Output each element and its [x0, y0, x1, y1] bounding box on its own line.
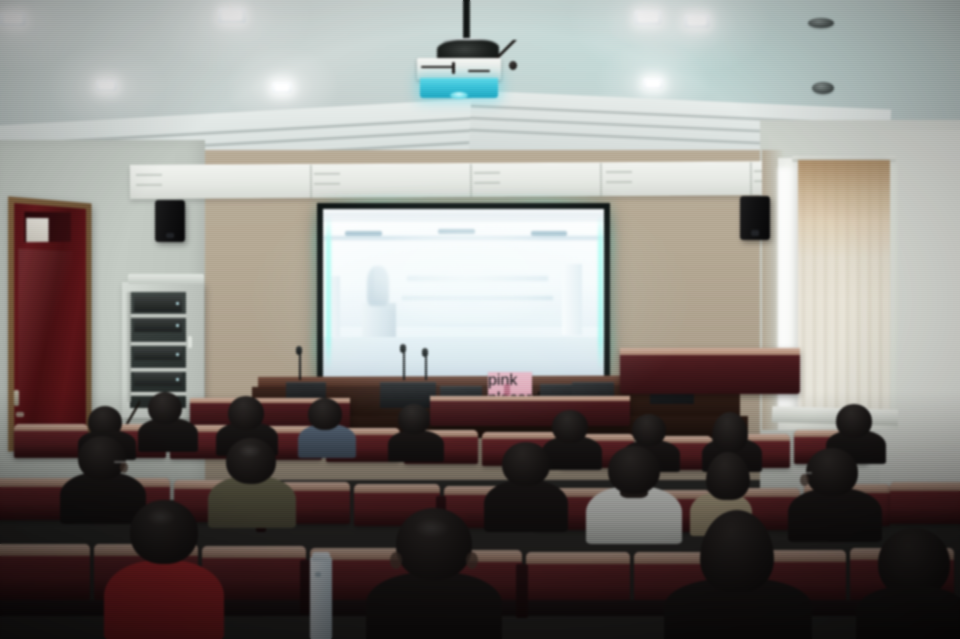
projection-screen[interactable] [323, 209, 604, 377]
hair-highlight [146, 508, 176, 526]
screen-side-glow-left [326, 215, 331, 371]
head [552, 410, 588, 443]
head [308, 398, 342, 430]
eyeglasses-arm [794, 472, 812, 474]
ear [390, 552, 402, 569]
eyeglasses-arm [114, 461, 130, 463]
head [608, 446, 660, 494]
bottle-cap[interactable] [312, 552, 330, 561]
curtain-shading [798, 160, 890, 418]
bench-back-wall-right[interactable] [620, 348, 800, 394]
microphone-mid-stem [403, 350, 405, 380]
ceiling-light-2 [218, 8, 246, 23]
speaker-driver-left-icon [166, 233, 174, 238]
ceiling-light-3 [96, 80, 117, 91]
placard-mark [504, 384, 510, 396]
ear [466, 552, 478, 569]
ceiling-speaker-mid-icon [812, 82, 834, 94]
head [228, 396, 264, 430]
projector-cable-knob [509, 61, 517, 70]
projector-lens-icon [450, 92, 468, 99]
hair-highlight [414, 518, 450, 538]
ceiling-light-6 [684, 14, 710, 28]
head [78, 436, 126, 480]
torso [388, 430, 444, 462]
projector-wire-3 [468, 70, 490, 72]
door-sign [26, 218, 48, 242]
head [712, 412, 748, 452]
seat[interactable] [0, 544, 90, 600]
torso [366, 572, 502, 639]
head [836, 404, 872, 438]
water-bottle[interactable] [310, 556, 332, 639]
bottle-label [315, 572, 321, 577]
ceiling-light-1 [0, 12, 26, 26]
head [632, 414, 666, 446]
rack-unit-1 [134, 296, 182, 312]
projector-body [417, 58, 501, 80]
ceiling-light-5 [634, 10, 662, 25]
ceiling-light-7 [643, 78, 663, 89]
rack-unit-2 [134, 318, 182, 332]
microphone-right-stem [425, 354, 427, 380]
hair-highlight [238, 444, 262, 458]
wall-speaker-right [740, 196, 770, 240]
rack-door-handle[interactable] [188, 336, 192, 348]
rack-top-panel [128, 274, 204, 284]
lecture-hall-photo: pink placard [0, 0, 960, 639]
speaker-driver-right-icon [751, 230, 759, 235]
seat[interactable] [890, 482, 960, 524]
door-lock-icon [16, 412, 24, 417]
torso [856, 586, 960, 639]
seat-arm-divider [516, 564, 528, 618]
soffit-valance [130, 161, 800, 199]
head [502, 442, 550, 486]
rack-side-conduit [126, 292, 131, 402]
torso [788, 488, 882, 542]
ceiling-light-4 [272, 82, 292, 93]
microphone-mid-head [400, 344, 406, 353]
seat[interactable] [14, 424, 88, 458]
microphone-left-head [296, 346, 302, 355]
projector-wire-2 [452, 62, 455, 74]
screen-side-glow-right [598, 215, 603, 371]
projector-wire-1 [421, 66, 455, 68]
door-handle[interactable] [14, 390, 19, 406]
ear [800, 474, 809, 486]
rack-shelf-2 [130, 342, 186, 346]
microphone-right-head [422, 348, 428, 357]
bench-back-wall-right-2[interactable] [430, 396, 630, 426]
head [148, 392, 182, 424]
rack-unit-3 [134, 348, 182, 360]
ceiling-speaker-right-icon [808, 18, 834, 28]
wall-speaker-left [155, 200, 185, 242]
microphone-left-stem [299, 352, 301, 380]
head [398, 404, 430, 434]
rack-unit-4 [134, 372, 182, 386]
screen-top-highlight [323, 209, 604, 213]
ear [120, 462, 128, 473]
head [806, 448, 858, 496]
torso [104, 560, 224, 639]
door-reflection [18, 248, 72, 411]
torso [484, 480, 568, 532]
